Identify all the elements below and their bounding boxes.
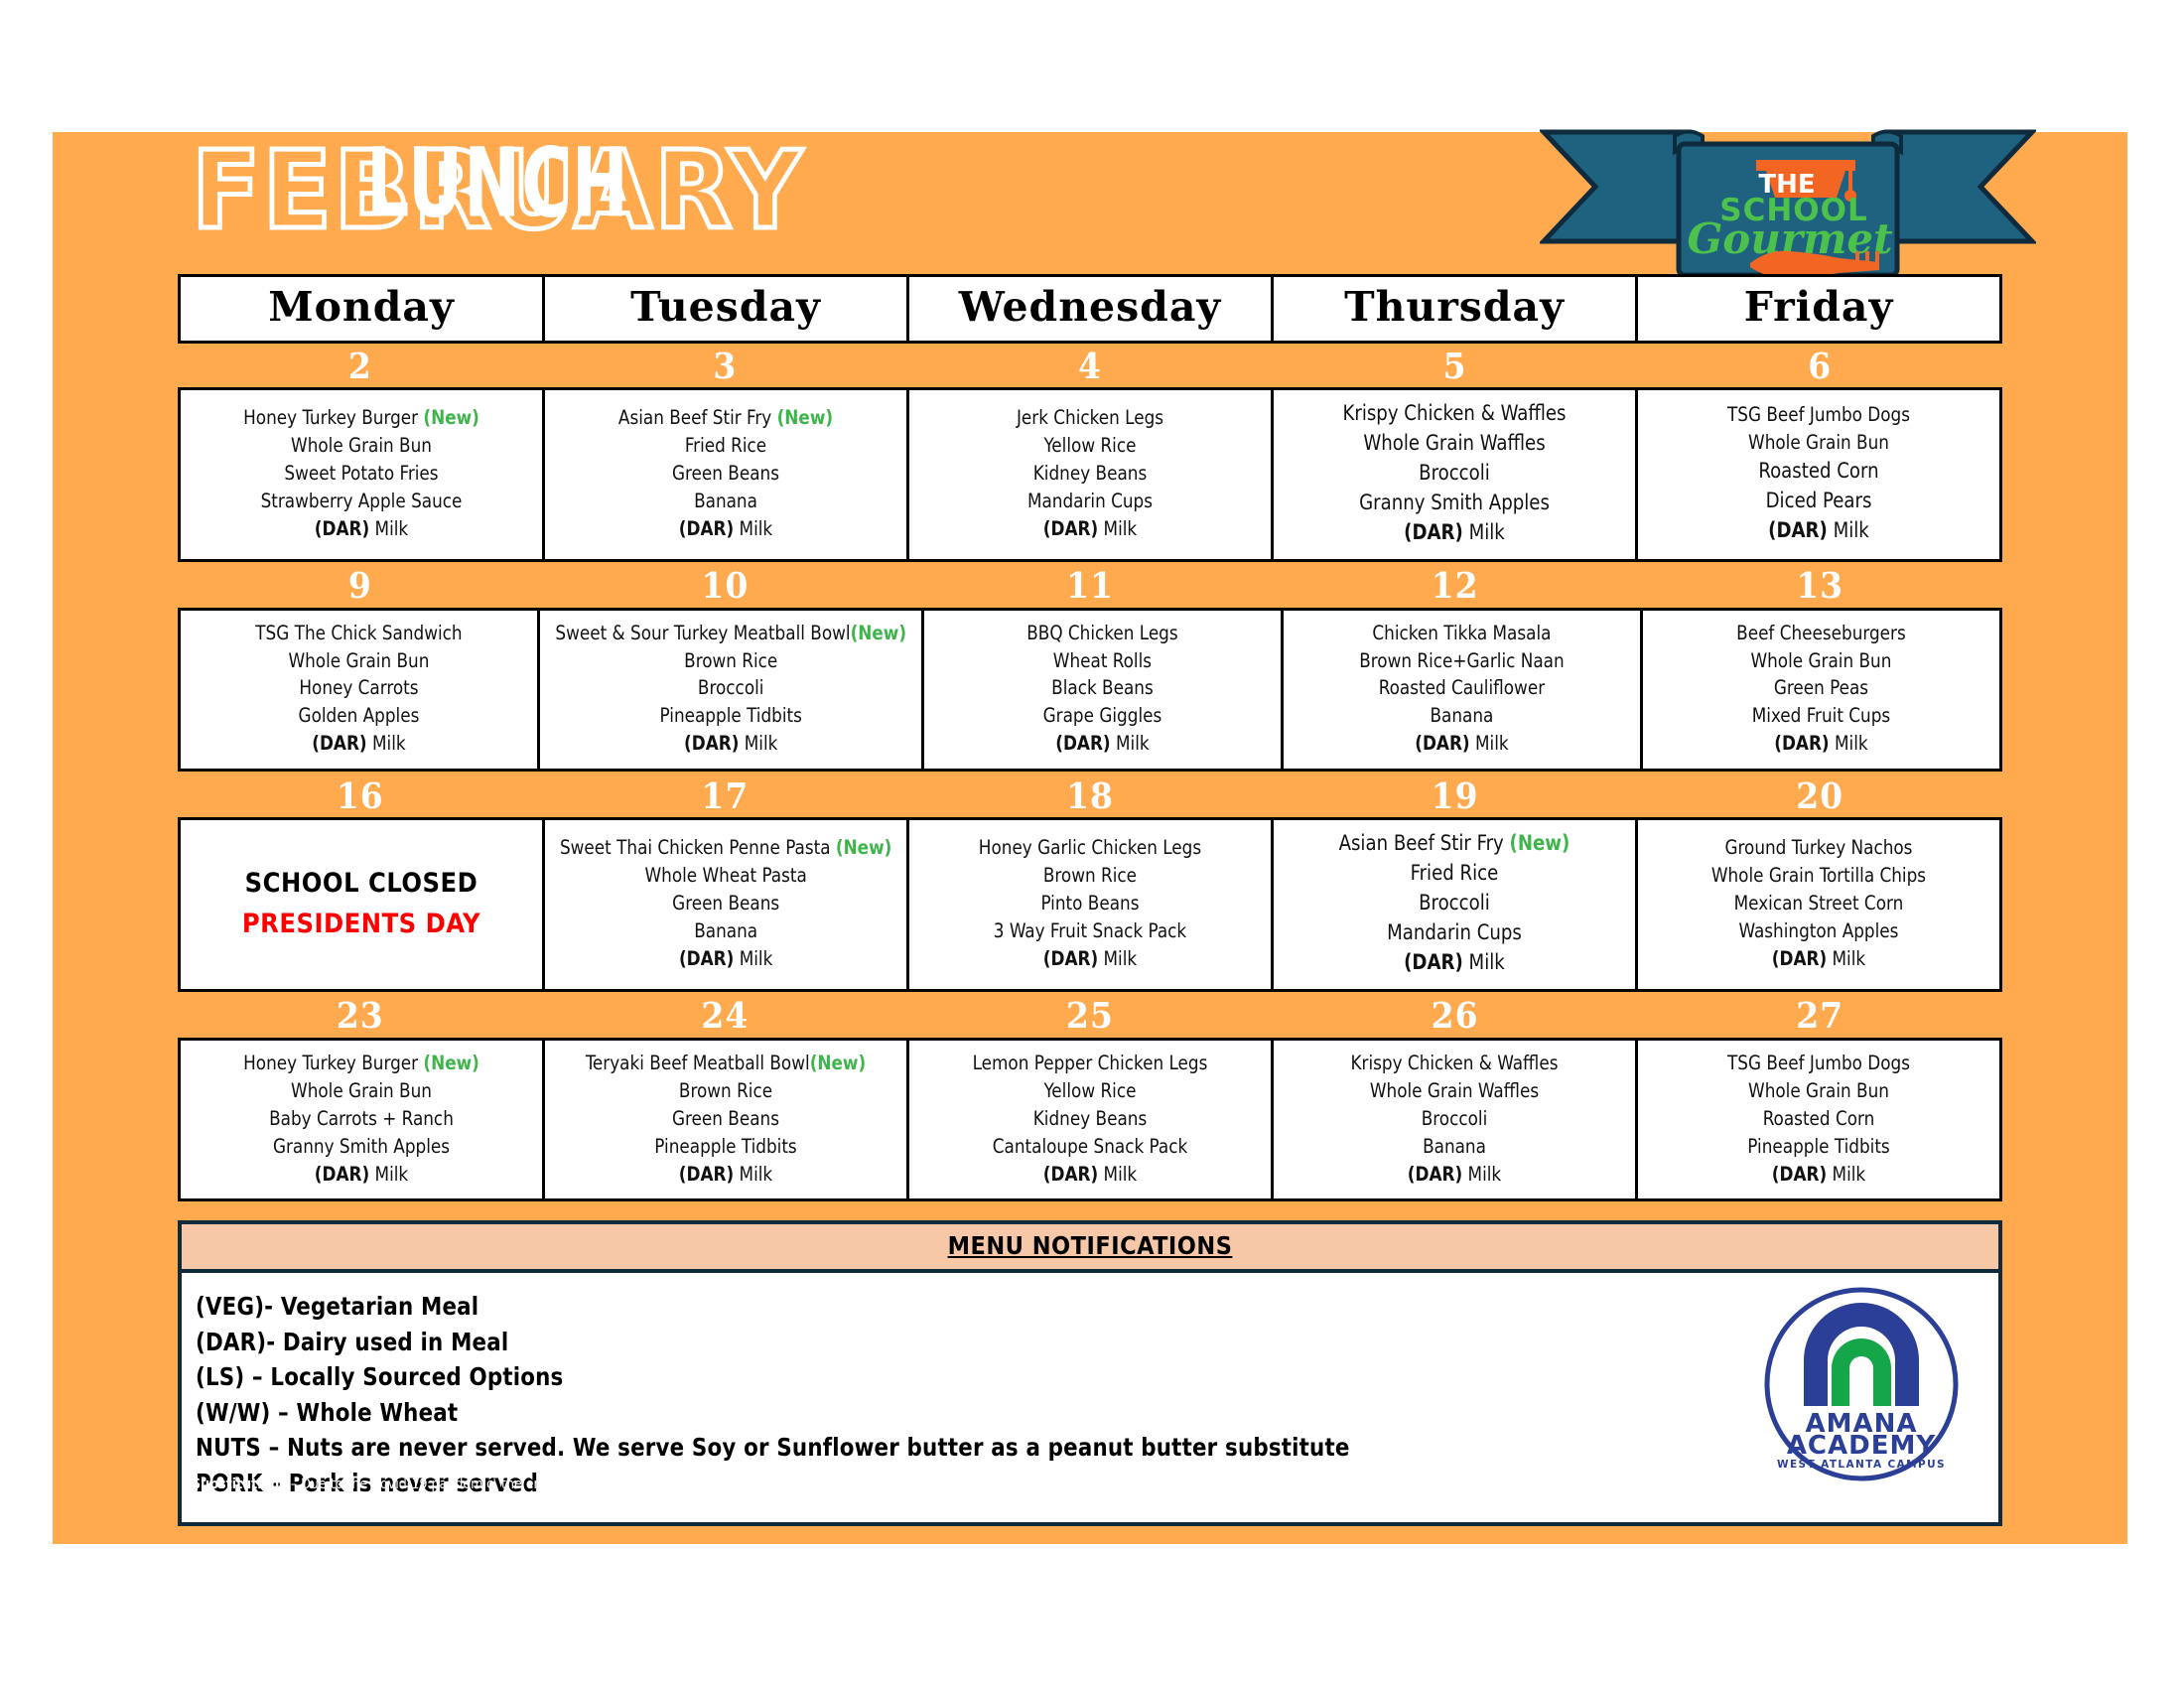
dairy-tag: (DAR) (312, 732, 366, 755)
day-header-monday: Monday (181, 277, 545, 341)
menu-item: Whole Grain Bun (1653, 430, 1984, 456)
menu-item: Whole Grain Bun (1658, 648, 1984, 674)
menu-item: (DAR) Milk (555, 731, 906, 757)
date-number: 17 (543, 774, 908, 816)
menu-item: Black Beans (939, 675, 1266, 701)
menu-item: Banana (1289, 1134, 1620, 1160)
menu-item: Washington Apples (1653, 918, 1984, 944)
menu-item: (DAR) Milk (560, 1162, 891, 1188)
day-cell: Sweet Thai Chicken Penne Pasta (New)Whol… (545, 820, 909, 989)
menu-item: (DAR) Milk (1658, 731, 1984, 757)
dairy-tag: (DAR) (1772, 947, 1827, 970)
menu-item: Whole Grain Bun (1653, 1078, 1984, 1104)
menu-item: Ground Turkey Nachos (1653, 835, 1984, 861)
menu-item: Broccoli (1289, 460, 1620, 488)
day-cell: TSG The Chick SandwichWhole Grain BunHon… (181, 611, 540, 770)
menu-item: Honey Turkey Burger (New) (196, 405, 527, 431)
menu-item: Asian Beef Stir Fry (New) (1289, 830, 1620, 858)
day-cell: Krispy Chicken & WafflesWhole Grain Waff… (1274, 1041, 1638, 1199)
new-item-tag: (New) (423, 1052, 478, 1074)
menu-item: Brown Rice (560, 1078, 891, 1104)
menu-item: Whole Grain Waffles (1289, 1078, 1620, 1104)
day-header-wednesday: Wednesday (909, 277, 1274, 341)
day-cell: Teryaki Beef Meatball Bowl(New)Brown Ric… (545, 1041, 909, 1199)
menu-item: Honey Carrots (196, 675, 522, 701)
menu-item: Banana (560, 489, 891, 514)
menu-item: Wheat Rolls (939, 648, 1266, 674)
menu-item: Beef Cheeseburgers (1658, 621, 1984, 646)
menu-item: Roasted Corn (1653, 458, 1984, 486)
date-number: 25 (907, 995, 1273, 1037)
dairy-tag: (DAR) (1408, 1163, 1462, 1186)
notification-line: (LS) – Locally Sourced Options (196, 1359, 1885, 1395)
menu-item: Whole Wheat Pasta (560, 863, 891, 889)
menu-item: (DAR) Milk (1653, 946, 1984, 972)
dairy-tag: (DAR) (315, 1163, 369, 1186)
date-number: 11 (907, 565, 1273, 607)
menu-notifications-header: MENU NOTIFICATIONS (182, 1224, 1998, 1273)
date-number: 3 (543, 345, 908, 386)
menu-item: Broccoli (555, 675, 906, 701)
menu-item: Whole Grain Bun (196, 1078, 527, 1104)
menu-item: Fried Rice (560, 433, 891, 459)
dairy-tag: (DAR) (1415, 732, 1469, 755)
menu-item: (DAR) Milk (939, 731, 1266, 757)
week-row: SCHOOL CLOSEDPRESIDENTS DAYSweet Thai Ch… (178, 817, 2002, 992)
date-number: 18 (907, 774, 1273, 816)
menu-item: Asian Beef Stir Fry (New) (560, 405, 891, 431)
menu-item: Sweet & Sour Turkey Meatball Bowl(New) (555, 621, 906, 646)
menu-item: Green Beans (560, 1106, 891, 1132)
dairy-tag: (DAR) (679, 947, 734, 970)
menu-item: Broccoli (1289, 890, 1620, 917)
date-number: 24 (543, 995, 908, 1037)
menu-item: (DAR) Milk (924, 946, 1256, 972)
menu-item: Fried Rice (1289, 860, 1620, 888)
dairy-tag: (DAR) (1043, 947, 1098, 970)
menu-item: Lemon Pepper Chicken Legs (924, 1051, 1256, 1076)
holiday-label: PRESIDENTS DAY (189, 909, 534, 939)
day-cell: Lemon Pepper Chicken LegsYellow RiceKidn… (909, 1041, 1274, 1199)
date-number: 23 (178, 995, 543, 1037)
menu-item: Roasted Cauliflower (1298, 675, 1625, 701)
notification-line: (W/W) – Whole Wheat (196, 1395, 1885, 1431)
day-cell-closed: SCHOOL CLOSEDPRESIDENTS DAY (181, 820, 545, 989)
date-number: 13 (1637, 565, 2002, 607)
the-school-gourmet-logo: THE SCHOOL Gourmet (1540, 124, 2036, 283)
menu-item: (DAR) Milk (924, 1162, 1256, 1188)
menu-item: Whole Grain Bun (196, 433, 527, 459)
dairy-tag: (DAR) (1404, 950, 1463, 974)
menu-item: Green Beans (560, 891, 891, 916)
dairy-tag: (DAR) (1774, 732, 1829, 755)
menu-item: Sweet Potato Fries (196, 461, 527, 487)
date-number: 4 (907, 345, 1273, 386)
dairy-tag: (DAR) (1772, 1163, 1827, 1186)
menu-item: (DAR) Milk (196, 731, 522, 757)
menu-item: Whole Grain Waffles (1289, 430, 1620, 458)
notification-line: (VEG)- Vegetarian Meal (196, 1289, 1885, 1325)
poster-header: FEBRUARY LUNCH (53, 132, 2127, 281)
menu-item: Sweet Thai Chicken Penne Pasta (New) (560, 835, 891, 861)
week-row: TSG The Chick SandwichWhole Grain BunHon… (178, 608, 2002, 773)
menu-item: Roasted Corn (1653, 1106, 1984, 1132)
date-number: 6 (1637, 345, 2002, 386)
dairy-tag: (DAR) (679, 1163, 734, 1186)
date-number: 12 (1273, 565, 1638, 607)
substitutions-note: Substitutions – Due to the Covid-19 pand… (178, 1463, 2002, 1511)
dairy-tag: (DAR) (1056, 732, 1111, 755)
dairy-tag: (DAR) (1043, 1163, 1098, 1186)
date-number: 27 (1637, 995, 2002, 1037)
menu-poster: FEBRUARY LUNCH (53, 132, 2127, 1544)
menu-item: Whole Grain Bun (196, 648, 522, 674)
date-row: 23456 (178, 344, 2002, 387)
menu-item: Green Peas (1658, 675, 1984, 701)
menu-item: Brown Rice (555, 648, 906, 674)
menu-item: Baby Carrots + Ranch (196, 1106, 527, 1132)
week-row: Honey Turkey Burger (New)Whole Grain Bun… (178, 387, 2002, 562)
page-root: FEBRUARY LUNCH (0, 0, 2184, 1688)
menu-item: Diced Pears (1653, 488, 1984, 515)
menu-item: (DAR) Milk (1289, 949, 1620, 977)
menu-item: Granny Smith Apples (1289, 490, 1620, 517)
date-row: 910111213 (178, 564, 2002, 608)
date-number: 26 (1273, 995, 1638, 1037)
menu-item: Brown Rice+Garlic Naan (1298, 648, 1625, 674)
new-item-tag: (New) (810, 1052, 866, 1074)
dairy-tag: (DAR) (315, 517, 369, 540)
title-meal: LUNCH (366, 128, 629, 239)
dairy-tag: (DAR) (1043, 517, 1098, 540)
menu-item: Yellow Rice (924, 433, 1256, 459)
day-cell: Asian Beef Stir Fry (New)Fried RiceBrocc… (1274, 820, 1638, 989)
dairy-tag: (DAR) (684, 732, 739, 755)
menu-item: Whole Grain Tortilla Chips (1653, 863, 1984, 889)
menu-item: Yellow Rice (924, 1078, 1256, 1104)
menu-item: TSG The Chick Sandwich (196, 621, 522, 646)
new-item-tag: (New) (1510, 831, 1570, 855)
new-item-tag: (New) (423, 406, 478, 429)
day-cell: Ground Turkey NachosWhole Grain Tortilla… (1638, 820, 1999, 989)
menu-item: Grape Giggles (939, 703, 1266, 729)
menu-item: Banana (560, 918, 891, 944)
menu-item: Granny Smith Apples (196, 1134, 527, 1160)
notification-line: (DAR)- Dairy used in Meal (196, 1325, 1885, 1360)
amana-academy-logo: AMANA ACADEMY WEST ATLANTA CAMPUS (1762, 1285, 1961, 1483)
school-closed-label: SCHOOL CLOSED (189, 868, 534, 899)
day-cell: Asian Beef Stir Fry (New)Fried RiceGreen… (545, 390, 909, 559)
substitutions-text: Substitutions – Due to the Covid-19 pand… (192, 1473, 1933, 1497)
menu-item: (DAR) Milk (560, 946, 891, 972)
day-header-row: Monday Tuesday Wednesday Thursday Friday (178, 274, 2002, 344)
date-number: 5 (1273, 345, 1638, 386)
menu-item: Pineapple Tidbits (555, 703, 906, 729)
menu-item: (DAR) Milk (1289, 519, 1620, 547)
week-row: Honey Turkey Burger (New)Whole Grain Bun… (178, 1038, 2002, 1202)
menu-item: Teryaki Beef Meatball Bowl(New) (560, 1051, 891, 1076)
menu-notifications-title: MENU NOTIFICATIONS (948, 1231, 1233, 1260)
menu-item: Honey Garlic Chicken Legs (924, 835, 1256, 861)
menu-item: (DAR) Milk (1298, 731, 1625, 757)
amana-line2: ACADEMY (1787, 1431, 1937, 1461)
substitutions-body: – Due to the Covid-19 pandemic, the enti… (287, 1477, 1774, 1492)
date-number: 9 (178, 565, 543, 607)
day-cell: Krispy Chicken & WafflesWhole Grain Waff… (1274, 390, 1638, 559)
menu-item: 3 Way Fruit Snack Pack (924, 918, 1256, 944)
menu-item: (DAR) Milk (196, 516, 527, 542)
notification-line: NUTS – Nuts are never served. We serve S… (196, 1430, 1885, 1466)
day-cell: Jerk Chicken LegsYellow RiceKidney Beans… (909, 390, 1274, 559)
menu-item: Kidney Beans (924, 1106, 1256, 1132)
menu-item: BBQ Chicken Legs (939, 621, 1266, 646)
date-number: 16 (178, 774, 543, 816)
day-header-thursday: Thursday (1274, 277, 1638, 341)
dairy-tag: (DAR) (679, 517, 734, 540)
menu-item: Brown Rice (924, 863, 1256, 889)
menu-item: Kidney Beans (924, 461, 1256, 487)
day-cell: BBQ Chicken LegsWheat RollsBlack BeansGr… (924, 611, 1284, 770)
day-cell: TSG Beef Jumbo DogsWhole Grain BunRoaste… (1638, 1041, 1999, 1199)
menu-item: TSG Beef Jumbo Dogs (1653, 1051, 1984, 1076)
menu-item: TSG Beef Jumbo Dogs (1653, 402, 1984, 428)
day-cell: Honey Turkey Burger (New)Whole Grain Bun… (181, 390, 545, 559)
menu-item: Pineapple Tidbits (560, 1134, 891, 1160)
menu-item: (DAR) Milk (196, 1162, 527, 1188)
menu-item: Mandarin Cups (924, 489, 1256, 514)
menu-item: Pineapple Tidbits (1653, 1134, 1984, 1160)
new-item-tag: (New) (850, 622, 905, 644)
date-row: 1617181920 (178, 774, 2002, 817)
menu-item: Green Beans (560, 461, 891, 487)
day-cell: TSG Beef Jumbo DogsWhole Grain BunRoaste… (1638, 390, 1999, 559)
menu-item: (DAR) Milk (924, 516, 1256, 542)
date-number: 10 (543, 565, 908, 607)
day-cell: Beef CheeseburgersWhole Grain BunGreen P… (1643, 611, 1999, 770)
date-number: 2 (178, 345, 543, 386)
day-header-friday: Friday (1638, 277, 1999, 341)
date-number: 20 (1637, 774, 2002, 816)
dairy-tag: (DAR) (1768, 518, 1828, 542)
menu-item: Broccoli (1289, 1106, 1620, 1132)
menu-item: Krispy Chicken & Waffles (1289, 400, 1620, 428)
date-row: 2324252627 (178, 994, 2002, 1038)
menu-item: Banana (1298, 703, 1625, 729)
menu-item: (DAR) Milk (1653, 1162, 1984, 1188)
dairy-tag: (DAR) (1404, 520, 1463, 544)
new-item-tag: (New) (836, 836, 891, 859)
menu-item: (DAR) Milk (560, 516, 891, 542)
menu-item: Mixed Fruit Cups (1658, 703, 1984, 729)
day-cell: Honey Turkey Burger (New)Whole Grain Bun… (181, 1041, 545, 1199)
menu-item: Strawberry Apple Sauce (196, 489, 527, 514)
new-item-tag: (New) (777, 406, 833, 429)
menu-item: Chicken Tikka Masala (1298, 621, 1625, 646)
day-cell: Sweet & Sour Turkey Meatball Bowl(New)Br… (540, 611, 924, 770)
menu-item: Mandarin Cups (1289, 919, 1620, 947)
day-cell: Honey Garlic Chicken LegsBrown RicePinto… (909, 820, 1274, 989)
date-number: 19 (1273, 774, 1638, 816)
menu-calendar: Monday Tuesday Wednesday Thursday Friday… (178, 274, 2002, 1203)
menu-item: Honey Turkey Burger (New) (196, 1051, 527, 1076)
menu-item: Jerk Chicken Legs (924, 405, 1256, 431)
menu-item: Cantaloupe Snack Pack (924, 1134, 1256, 1160)
menu-item: (DAR) Milk (1289, 1162, 1620, 1188)
poster-title-meal-wrap: LUNCH (192, 154, 652, 239)
menu-item: Golden Apples (196, 703, 522, 729)
calendar-weeks: 23456Honey Turkey Burger (New)Whole Grai… (178, 344, 2002, 1201)
menu-item: Mexican Street Corn (1653, 891, 1984, 916)
menu-item: (DAR) Milk (1653, 517, 1984, 545)
substitutions-label: Substitutions (192, 1477, 287, 1492)
menu-item: Pinto Beans (924, 891, 1256, 916)
day-cell: Chicken Tikka MasalaBrown Rice+Garlic Na… (1284, 611, 1643, 770)
day-header-tuesday: Tuesday (545, 277, 909, 341)
menu-item: Krispy Chicken & Waffles (1289, 1051, 1620, 1076)
